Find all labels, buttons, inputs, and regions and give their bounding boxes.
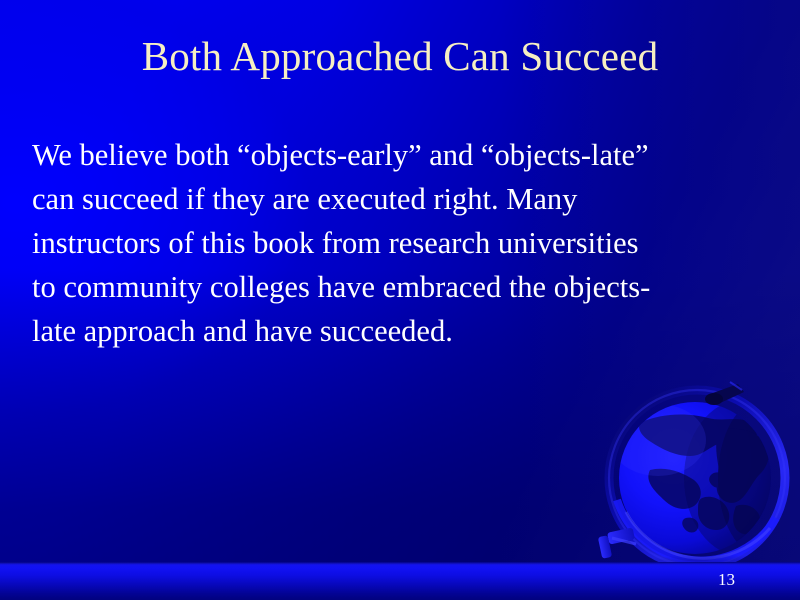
footer-accent-band <box>0 563 800 600</box>
body-line: can succeed if they are executed right. … <box>32 177 758 221</box>
page-number: 13 <box>718 570 758 590</box>
slide-title: Both Approached Can Succeed <box>0 34 800 80</box>
body-line: We believe both “objects-early” and “obj… <box>32 133 758 177</box>
body-line: late approach and have succeeded. <box>32 309 758 353</box>
body-line: to community colleges have embraced the … <box>32 265 758 309</box>
presentation-slide: Both Approached Can Succeed We believe b… <box>0 0 800 600</box>
body-line: instructors of this book from research u… <box>32 221 758 265</box>
slide-body-text: We believe both “objects-early” and “obj… <box>32 133 758 353</box>
